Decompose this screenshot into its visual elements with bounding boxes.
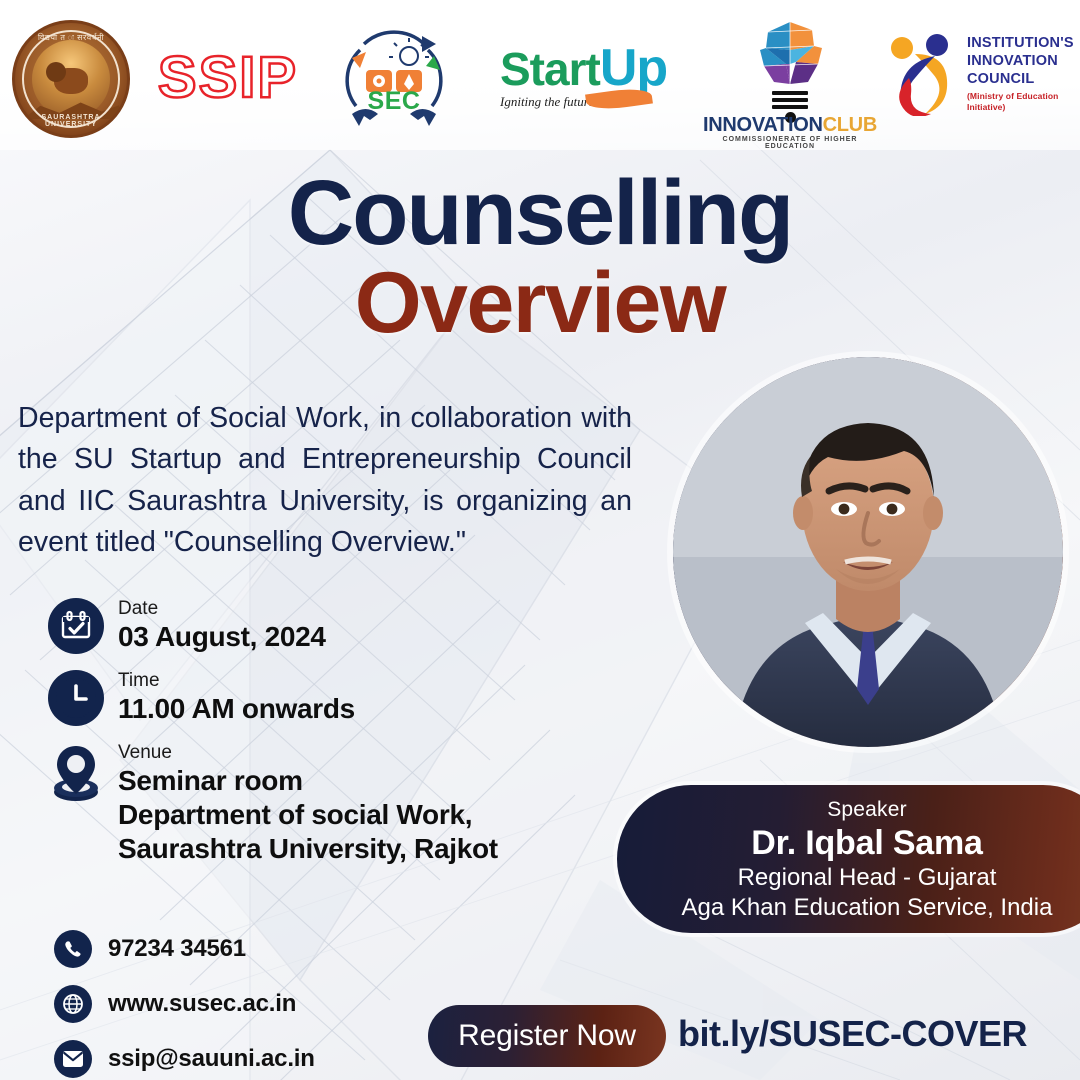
speaker-organization: Aga Khan Education Service, India xyxy=(617,893,1080,923)
venue-value-line-2: Department of social Work, xyxy=(118,798,498,832)
speaker-label: Speaker xyxy=(617,798,1080,822)
startup-logo-text-start: Start xyxy=(500,43,600,95)
event-description: Department of Social Work, in collaborat… xyxy=(18,398,632,563)
iic-ministry-note: (Ministry of Education Initiative) xyxy=(967,91,1075,112)
sec-logo-graphic xyxy=(330,22,458,140)
ssip-logo-text: SSIP xyxy=(158,44,298,111)
detail-row-venue: Venue Seminar room Department of social … xyxy=(48,742,618,866)
iic-text-block: INSTITUTION'S INNOVATION COUNCIL (Minist… xyxy=(967,34,1075,113)
ssip-logo: SSIP xyxy=(148,42,308,112)
contact-list: 97234 34561 www.susec.ac.in xyxy=(54,930,315,1080)
contact-row-email[interactable]: ssip@sauuni.ac.in xyxy=(54,1040,315,1078)
venue-text-block: Venue Seminar room Department of social … xyxy=(118,742,498,866)
email-address: ssip@sauuni.ac.in xyxy=(108,1045,315,1073)
location-pin-icon xyxy=(48,744,104,808)
speaker-portrait-image xyxy=(673,357,1063,747)
date-value: 03 August, 2024 xyxy=(118,620,326,654)
phone-icon xyxy=(54,930,92,968)
poster-canvas: विद्यया त ः सरवर्धनी SAURASHTRA UNIVERSI… xyxy=(0,0,1080,1080)
seal-bottom-text: SAURASHTRA UNIVERSITY xyxy=(15,114,127,128)
innovation-bulb-icon xyxy=(752,20,828,94)
innovation-club-logo: INNOVATIONCLUB COMMISSIONERATE OF HIGHER… xyxy=(700,18,880,138)
iic-line-3: COUNCIL xyxy=(967,70,1075,88)
detail-row-date: Date 03 August, 2024 xyxy=(48,598,618,654)
clock-icon xyxy=(55,677,97,719)
registration-link[interactable]: bit.ly/SUSEC-COVER xyxy=(678,1013,1027,1055)
speaker-photo xyxy=(673,357,1063,747)
iic-line-1: INSTITUTION'S xyxy=(967,34,1075,52)
saurashtra-university-seal-logo: विद्यया त ः सरवर्धनी SAURASHTRA UNIVERSI… xyxy=(12,20,130,138)
contact-row-website[interactable]: www.susec.ac.in xyxy=(54,985,315,1023)
time-icon-wrap xyxy=(48,670,104,726)
contact-row-phone[interactable]: 97234 34561 xyxy=(54,930,315,968)
venue-value-line-1: Seminar room xyxy=(118,764,498,798)
register-now-button[interactable]: Register Now xyxy=(428,1005,666,1067)
date-text-block: Date 03 August, 2024 xyxy=(118,598,326,654)
innovation-club-word-club: CLUB xyxy=(823,114,877,136)
email-icon xyxy=(54,1040,92,1078)
date-label: Date xyxy=(118,598,326,620)
phone-number: 97234 34561 xyxy=(108,935,246,963)
event-details-list: Date 03 August, 2024 Time 11.00 AM onwar… xyxy=(48,598,618,882)
date-icon-wrap xyxy=(48,598,104,654)
calendar-check-icon xyxy=(60,610,92,642)
website-url: www.susec.ac.in xyxy=(108,990,296,1018)
logo-strip: विद्यया त ः सरवर्धनी SAURASHTRA UNIVERSI… xyxy=(0,0,1080,150)
poster-title-block: Counselling Overview xyxy=(0,168,1080,348)
speaker-info-card: Speaker Dr. Iqbal Sama Regional Head - G… xyxy=(617,785,1080,933)
time-label: Time xyxy=(118,670,355,692)
sec-logo-text: SEC xyxy=(330,87,458,116)
venue-icon-wrap xyxy=(48,744,104,800)
sec-logo: SEC xyxy=(330,22,458,140)
innovation-club-word-innovation: INNOVATION xyxy=(703,114,823,136)
venue-label: Venue xyxy=(118,742,498,764)
speaker-role: Regional Head - Gujarat xyxy=(617,863,1080,893)
venue-value-line-3: Saurashtra University, Rajkot xyxy=(118,832,498,866)
page-subtitle: Overview xyxy=(0,260,1080,348)
page-title: Counselling xyxy=(0,168,1080,258)
time-text-block: Time 11.00 AM onwards xyxy=(118,670,355,726)
iic-mark-icon xyxy=(885,32,963,116)
innovation-club-subtitle: COMMISSIONERATE OF HIGHER EDUCATION xyxy=(700,136,880,150)
detail-row-time: Time 11.00 AM onwards xyxy=(48,670,618,726)
iic-line-2: INNOVATION xyxy=(967,52,1075,70)
innovation-club-name: INNOVATIONCLUB xyxy=(700,114,880,137)
seal-top-text: विद्यया त ः सरवर्धनी xyxy=(15,32,127,43)
time-value: 11.00 AM onwards xyxy=(118,692,355,726)
startup-logo: StartUp Igniting the future xyxy=(500,38,690,128)
speaker-name: Dr. Iqbal Sama xyxy=(617,824,1080,863)
globe-icon xyxy=(54,985,92,1023)
iic-logo: INSTITUTION'S INNOVATION COUNCIL (Minist… xyxy=(885,28,1075,128)
startup-logo-text-up: Up xyxy=(600,39,667,97)
